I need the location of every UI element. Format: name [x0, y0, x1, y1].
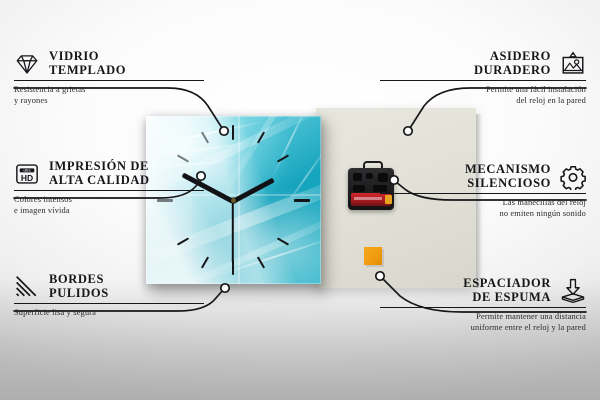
feature-asidero-duradero: ASIDERO DURADERO Permite una fácil insta… — [376, 50, 586, 107]
feature-espaciador-de-espuma: ESPACIADOR DE ESPUMA Permite mantener un… — [376, 277, 586, 334]
feature-title-line2: SILENCIOSO — [465, 177, 551, 191]
feature-title-line1: VIDRIO — [49, 50, 126, 64]
feature-desc-line2: e imagen vívida — [14, 206, 224, 217]
feature-title-line2: DURADERO — [474, 64, 551, 78]
feature-desc-line2: no emiten ningún sonido — [376, 209, 586, 220]
feature-title-line1: IMPRESIÓN DE — [49, 160, 150, 174]
gear-icon — [560, 164, 586, 190]
feature-divider — [380, 307, 586, 308]
feature-title-line2: ALTA CALIDAD — [49, 174, 150, 188]
ultra-hd-badge-icon: ultra HD — [14, 161, 40, 187]
feature-divider — [380, 80, 586, 81]
feature-mecanismo-silencioso: MECANISMO SILENCIOSO Las manecillas del … — [376, 163, 586, 220]
feature-title-line2: PULIDOS — [49, 287, 109, 301]
feature-desc-line2: del reloj en la pared — [376, 96, 586, 107]
feature-divider — [14, 303, 204, 304]
feature-divider — [380, 193, 586, 194]
leader-dot-vidrio — [220, 127, 228, 135]
feature-desc-line2: y rayones — [14, 96, 224, 107]
hanging-picture-frame-icon — [560, 51, 586, 77]
feature-title-line2: DE ESPUMA — [463, 291, 551, 305]
feature-title-line1: ESPACIADOR — [463, 277, 551, 291]
feature-impresion-alta-calidad: ultra HD IMPRESIÓN DE ALTA CALIDAD Color… — [14, 160, 224, 217]
feature-divider — [14, 80, 204, 81]
ultra-hd-large-label: HD — [21, 172, 33, 182]
feature-title-line1: ASIDERO — [474, 50, 551, 64]
feature-desc-line1: Superficie lisa y segura — [14, 308, 224, 319]
feature-divider — [14, 190, 204, 191]
feature-desc-line1: Permite una fácil instalación — [376, 85, 586, 96]
infographic-canvas: VIDRIO TEMPLADO Resistencia a grietas y … — [0, 0, 600, 400]
feature-desc-line1: Las manecillas del reloj — [376, 198, 586, 209]
feature-desc-line1: Permite mantener una distancia — [376, 312, 586, 323]
feature-title-line1: MECANISMO — [465, 163, 551, 177]
feature-title-line2: TEMPLADO — [49, 64, 126, 78]
feature-vidrio-templado: VIDRIO TEMPLADO Resistencia a grietas y … — [14, 50, 224, 107]
feature-bordes-pulidos: BORDES PULIDOS Superficie lisa y segura — [14, 273, 224, 319]
feature-desc-line1: Resistencia a grietas — [14, 85, 224, 96]
feature-desc-line1: Colores intensos — [14, 195, 224, 206]
feature-title-line1: BORDES — [49, 273, 109, 287]
arrow-onto-pad-icon — [560, 278, 586, 304]
diamond-icon — [14, 51, 40, 77]
feature-desc-line2: uniforme entre el reloj y la pared — [376, 323, 586, 334]
diagonal-lines-icon — [14, 274, 40, 300]
leader-dot-asidero — [404, 127, 412, 135]
